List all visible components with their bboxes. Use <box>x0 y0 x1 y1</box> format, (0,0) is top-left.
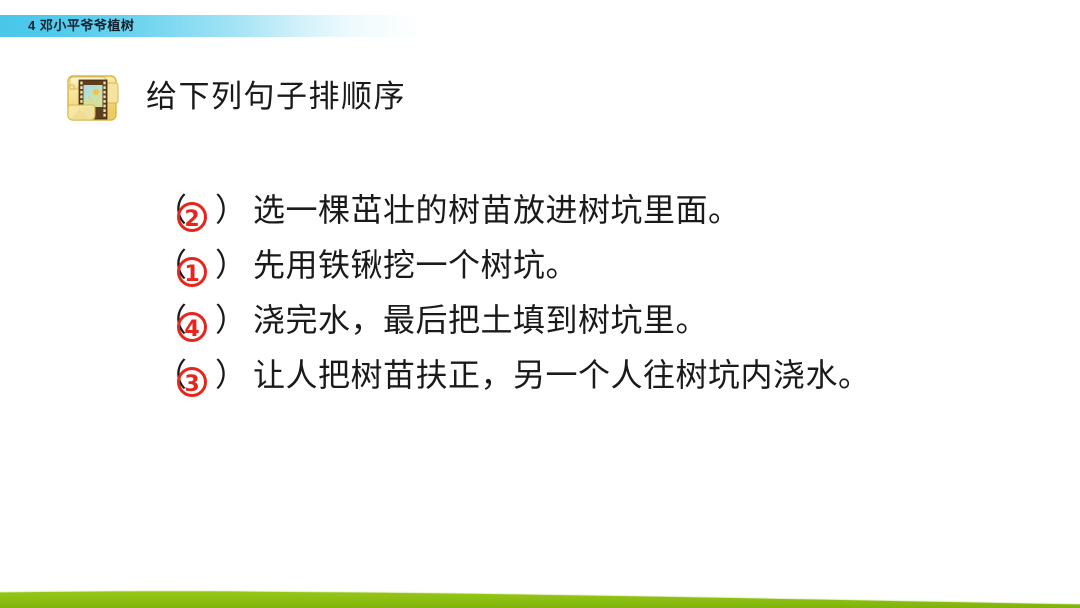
paren-open: （ <box>155 183 171 238</box>
paren-close: ） <box>215 183 239 238</box>
answer-digit: 3 <box>184 374 199 396</box>
paren-close: ） <box>215 293 239 348</box>
slide-canvas: 4 邓小平爷爷植树 <box>0 0 1080 608</box>
sentence-text: 选一棵茁壮的树苗放进树坑里面。 <box>253 183 741 238</box>
list-item: （ 4 ） 浇完水，最后把土填到树坑里。 <box>155 293 1035 348</box>
header-gradient-bar <box>0 15 1080 37</box>
heading-label: 给下列句子排顺序 <box>146 82 406 113</box>
sentence-ordering-list: （ 2 ） 选一棵茁壮的树苗放进树坑里面。 （ 1 ） 先用铁锹挖一个树坑。 （… <box>155 183 1035 403</box>
answer-number-circle[interactable]: 1 <box>173 255 213 295</box>
list-item: （ 3 ） 让人把树苗扶正，另一个人往树坑内浇水。 <box>155 348 1035 403</box>
list-item: （ 2 ） 选一棵茁壮的树苗放进树坑里面。 <box>155 183 1035 238</box>
section-heading: 给下列句子排顺序 <box>62 66 406 128</box>
sentence-text: 让人把树苗扶正，另一个人往树坑内浇水。 <box>253 348 871 403</box>
paren-open: （ <box>155 293 171 348</box>
answer-number-circle[interactable]: 2 <box>173 200 213 240</box>
answer-digit: 2 <box>184 209 199 231</box>
paren-open: （ <box>155 238 171 293</box>
sentence-text: 先用铁锹挖一个树坑。 <box>253 238 578 293</box>
lesson-title-label: 4 邓小平爷爷植树 <box>28 16 134 36</box>
list-item: （ 1 ） 先用铁锹挖一个树坑。 <box>155 238 1035 293</box>
answer-digit: 1 <box>184 264 199 286</box>
photo-folder-icon <box>62 67 124 127</box>
sentence-text: 浇完水，最后把土填到树坑里。 <box>253 293 708 348</box>
paren-open: （ <box>155 348 171 403</box>
answer-number-circle[interactable]: 3 <box>173 365 213 405</box>
green-grass-curve <box>0 568 1080 608</box>
paren-close: ） <box>215 348 239 403</box>
answer-digit: 4 <box>184 319 199 341</box>
answer-number-circle[interactable]: 4 <box>173 310 213 350</box>
paren-close: ） <box>215 238 239 293</box>
